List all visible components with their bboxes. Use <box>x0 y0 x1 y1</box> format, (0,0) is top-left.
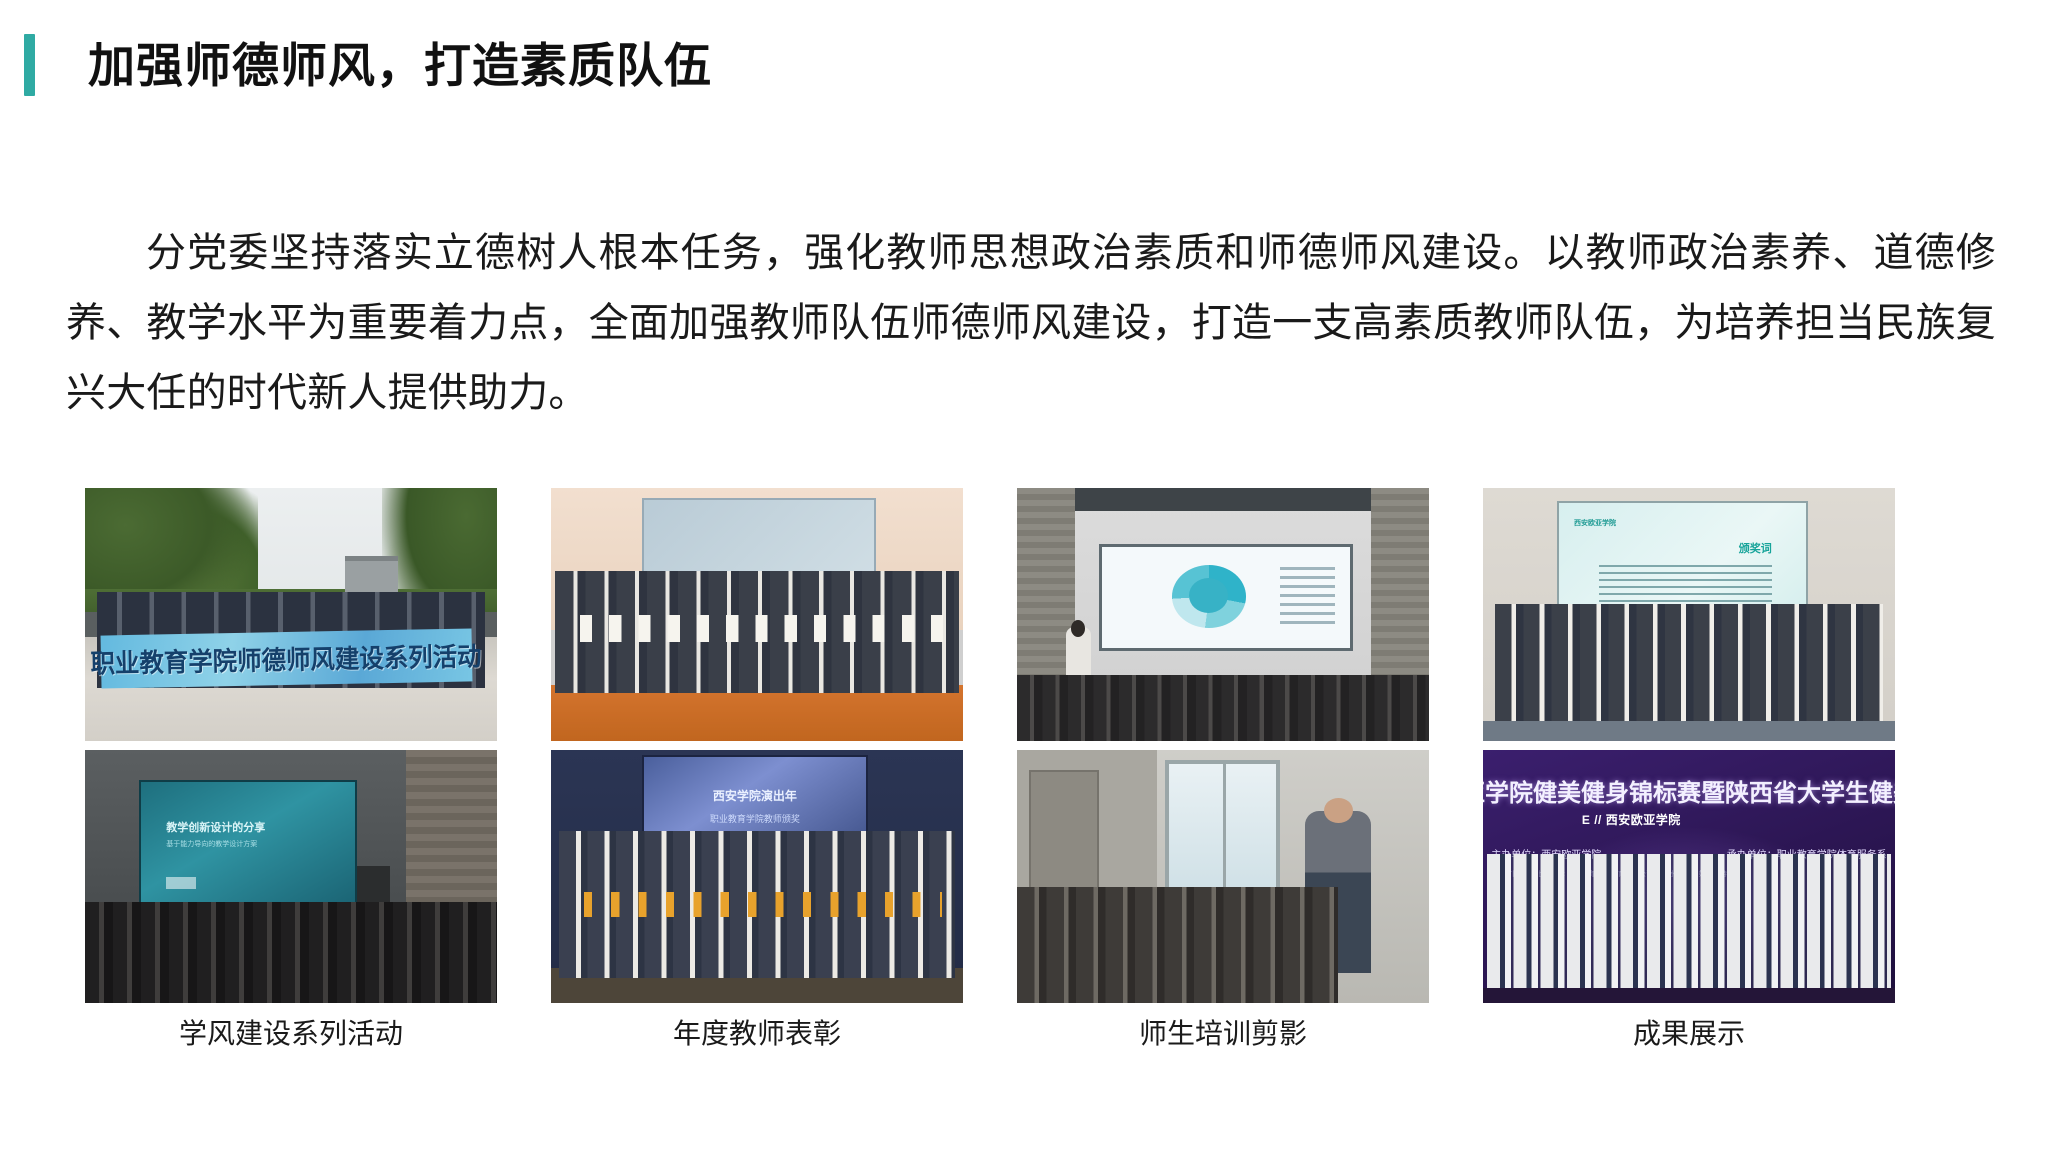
photo-scene-award-ceremony: 西安欧亚学院 颁奖词 2022-2023学年学校优秀教职工 <box>1483 488 1895 741</box>
photo-row2-col4[interactable]: 亚学院健美健身锦标赛暨陕西省大学生健美 E // 西安欧亚学院 主办单位：西安欧… <box>1483 750 1895 1003</box>
ceiling-band <box>1075 488 1372 511</box>
photo-row1-col3[interactable] <box>1017 488 1429 741</box>
caption-photo-3: 师生培训剪影 <box>1017 1014 1429 1054</box>
photo-scene-flower-award-group: 西安学院演出年 职业教育学院教师颁奖 <box>551 750 963 1003</box>
screen-logo <box>166 877 196 889</box>
screen-header-text: 西安欧亚学院 <box>1574 518 1616 528</box>
photo-scene-certificate-group <box>551 488 963 741</box>
backdrop-logo-text: E // 西安欧亚学院 <box>1582 811 1681 828</box>
photo-scene-classroom-training <box>1017 750 1429 1003</box>
instructor-head <box>1324 798 1353 823</box>
event-banner: 职业教育学院师德师风建设系列活动 <box>101 629 473 689</box>
screen-title-text: 教学创新设计的分享 <box>166 819 265 835</box>
slide-root: 加强师德师风，打造素质队伍 分党委坚持落实立德树人根本任务，强化教师思想政治素质… <box>0 0 2048 1152</box>
projection-screen: 教学创新设计的分享 基于能力导向的教学设计方案 <box>139 780 357 905</box>
backdrop-title-text: 亚学院健美健身锦标赛暨陕西省大学生健美 <box>1483 773 1895 808</box>
caption-photo-2: 年度教师表彰 <box>551 1014 963 1054</box>
audience-silhouettes <box>1017 675 1429 741</box>
stage-floor <box>1483 988 1895 1003</box>
screen-subtitle-text: 基于能力导向的教学设计方案 <box>166 839 257 849</box>
photo-row1-col2[interactable] <box>551 488 963 741</box>
photo-scene-outdoor-banner: 职业教育学院师德师风建设系列活动 <box>85 488 497 741</box>
stage-floor <box>1483 721 1895 741</box>
screen-subtitle-text: 职业教育学院教师颁奖 <box>710 812 800 825</box>
window-mullion <box>1223 764 1226 896</box>
window <box>1165 760 1280 900</box>
wall-panel-right <box>1371 488 1429 685</box>
staff-group-row <box>1487 854 1891 996</box>
awardees-row <box>1495 604 1882 731</box>
photo-row2-col3[interactable] <box>1017 750 1429 1003</box>
photo-grid: 职业教育学院师德师风建设系列活动 <box>85 488 1897 1003</box>
orange-floor <box>551 685 963 741</box>
projection-screen <box>642 498 877 573</box>
door <box>1029 770 1099 906</box>
photo-scene-purple-stage-group: 亚学院健美健身锦标赛暨陕西省大学生健美 E // 西安欧亚学院 主办单位：西安欧… <box>1483 750 1895 1003</box>
page-title: 加强师德师风，打造素质队伍 <box>88 42 712 89</box>
slide-text-column <box>1280 567 1334 626</box>
body-paragraph: 分党委坚持落实立德树人根本任务，强化教师思想政治素质和师德师风建设。以教师政治素… <box>66 218 1996 428</box>
wall-panel-right <box>406 750 497 927</box>
caption-photo-1: 学风建设系列活动 <box>85 1014 497 1054</box>
screen-title-text: 颁奖词 <box>1739 540 1772 556</box>
photo-row1-col1[interactable]: 职业教育学院师德师风建设系列活动 <box>85 488 497 741</box>
audience-silhouettes <box>85 902 497 1003</box>
title-accent-bar <box>24 34 35 96</box>
caption-row: 学风建设系列活动 年度教师表彰 师生培训剪影 成果展示 <box>85 1014 1897 1054</box>
photo-scene-teal-screen-lecture: 教学创新设计的分享 基于能力导向的教学设计方案 <box>85 750 497 1003</box>
event-banner-text: 职业教育学院师德师风建设系列活动 <box>91 637 483 682</box>
caption-photo-4: 成果展示 <box>1483 1014 1895 1054</box>
presentation-screen <box>1099 544 1352 651</box>
screen-title-text: 西安学院演出年 <box>713 787 797 804</box>
photo-scene-lecture-hall <box>1017 488 1429 741</box>
body-paragraph-block: 分党委坚持落实立德树人根本任务，强化教师思想政治素质和师德师风建设。以教师政治素… <box>66 218 1996 428</box>
trainees-row <box>1017 887 1338 1003</box>
slide-header: 加强师德师风，打造素质队伍 <box>24 34 712 96</box>
photo-row2-col1[interactable]: 教学创新设计的分享 基于能力导向的教学设计方案 <box>85 750 497 1003</box>
flower-bouquets-row <box>572 892 943 917</box>
photo-row2-col2[interactable]: 西安学院演出年 职业教育学院教师颁奖 <box>551 750 963 1003</box>
screen-body-lines <box>1599 565 1772 606</box>
certificates-row <box>567 615 946 643</box>
photo-row1-col4[interactable]: 西安欧亚学院 颁奖词 2022-2023学年学校优秀教职工 <box>1483 488 1895 741</box>
